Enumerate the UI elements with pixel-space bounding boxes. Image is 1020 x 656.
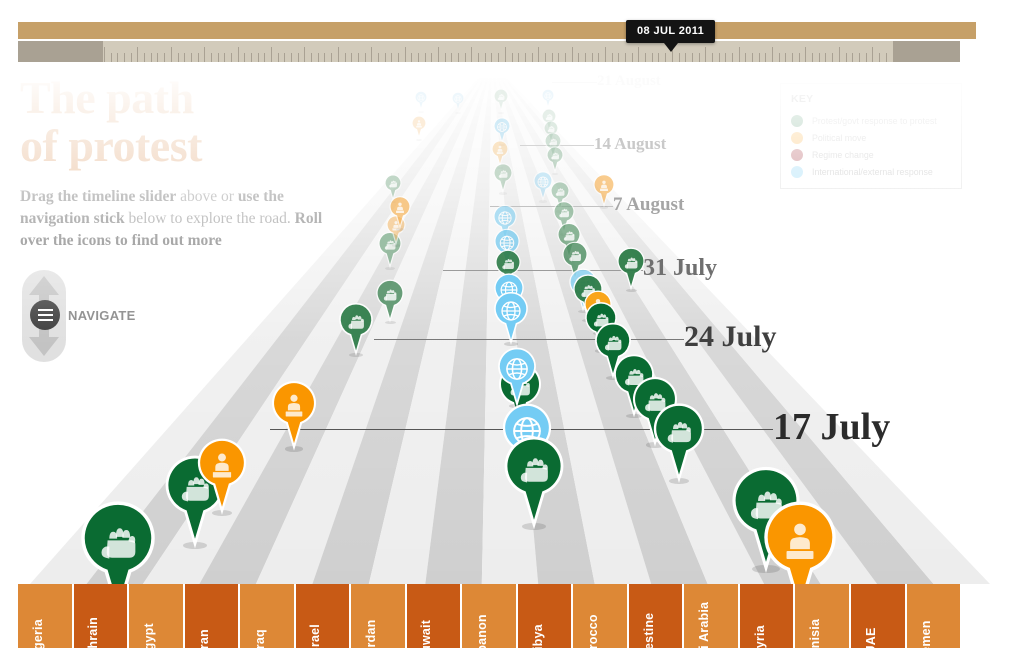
pin-body[interactable] xyxy=(590,176,618,214)
timeline-ruler[interactable] xyxy=(18,41,960,62)
timeline-bar[interactable] xyxy=(18,22,976,39)
timeline-tick xyxy=(191,53,192,62)
timeline-tick xyxy=(725,53,726,62)
timeline-tick xyxy=(799,53,800,62)
timeline-tick xyxy=(458,53,459,62)
country-label: Palestine xyxy=(642,613,656,648)
timeline-tick xyxy=(785,53,786,62)
timeline-tick xyxy=(117,53,118,62)
timeline-tick xyxy=(652,53,653,62)
timeline-slider[interactable]: 08 JUL 2011 xyxy=(0,0,1020,70)
country-cell[interactable]: Iran xyxy=(185,584,239,648)
timeline-tick xyxy=(772,47,773,62)
country-label: Yemen xyxy=(919,620,933,648)
map-pin-fist[interactable] xyxy=(490,90,512,119)
timeline-tick xyxy=(478,53,479,62)
timeline-tick xyxy=(752,53,753,62)
pin-body[interactable] xyxy=(490,90,512,119)
country-cell[interactable]: Iraq xyxy=(240,584,294,648)
date-label: 7 August xyxy=(613,194,684,216)
country-cell[interactable]: Tunisia xyxy=(795,584,849,648)
timeline-tick xyxy=(378,53,379,62)
timeline-tick xyxy=(846,53,847,62)
country-label: UAE xyxy=(864,628,878,649)
timeline-tick xyxy=(685,53,686,62)
timeline-tick xyxy=(351,53,352,62)
pin-body[interactable] xyxy=(495,351,539,412)
map-pin-podium[interactable] xyxy=(386,198,414,236)
country-label: Libya xyxy=(531,624,545,648)
timeline-tick xyxy=(565,53,566,62)
timeline-tick xyxy=(585,53,586,62)
timeline-tick xyxy=(505,47,506,62)
timeline-tick xyxy=(264,53,265,62)
timeline-tick xyxy=(137,47,138,62)
timeline-tick xyxy=(558,53,559,62)
country-label: Syria xyxy=(753,625,767,648)
pin-body[interactable] xyxy=(195,443,249,519)
timeline-tick xyxy=(284,53,285,62)
map-pin-globe[interactable] xyxy=(491,295,531,350)
timeline-tick xyxy=(104,47,105,62)
timeline-tick xyxy=(211,53,212,62)
timeline-tick xyxy=(331,53,332,62)
timeline-tick xyxy=(218,53,219,62)
timeline-tick xyxy=(705,47,706,62)
timeline-tick xyxy=(872,47,873,62)
timeline-tick xyxy=(338,47,339,62)
timeline-tick xyxy=(451,53,452,62)
timeline-tick xyxy=(291,53,292,62)
date-label: 17 July xyxy=(773,405,890,449)
country-cell[interactable]: Egypt xyxy=(129,584,183,648)
timeline-tick xyxy=(491,53,492,62)
timeline-tick xyxy=(605,47,606,62)
timeline-tick xyxy=(552,53,553,62)
timeline-tick xyxy=(164,53,165,62)
timeline-tick xyxy=(732,53,733,62)
country-label: Jordan xyxy=(364,620,378,648)
timeline-tick xyxy=(699,53,700,62)
road-perspective: 21 August14 August7 August31 July24 July… xyxy=(0,70,1020,584)
country-label: Lebanon xyxy=(475,614,489,648)
timeline-tick xyxy=(251,53,252,62)
map-pin-fist[interactable] xyxy=(79,508,157,584)
timeline-tick xyxy=(445,53,446,62)
timeline-tick xyxy=(157,53,158,62)
map-pin-globe[interactable] xyxy=(495,351,539,412)
timeline-tick xyxy=(578,53,579,62)
map-pin-podium[interactable] xyxy=(269,385,319,455)
pin-body[interactable] xyxy=(651,408,707,487)
timeline-tick xyxy=(178,53,179,62)
timeline-tick xyxy=(278,53,279,62)
timeline-tick xyxy=(345,53,346,62)
timeline-tick xyxy=(271,47,272,62)
timeline-tick xyxy=(391,53,392,62)
date-label: 31 July xyxy=(643,255,717,282)
timeline-tick xyxy=(852,53,853,62)
map-pin-globe[interactable] xyxy=(411,92,431,118)
timeline-tick xyxy=(438,47,439,62)
country-cell[interactable]: Bahrain xyxy=(74,584,128,648)
country-cell[interactable]: Saudi Arabia xyxy=(684,584,738,648)
timeline-tick xyxy=(665,53,666,62)
timeline-tick xyxy=(258,53,259,62)
timeline-tick xyxy=(886,53,887,62)
timeline-tick xyxy=(759,53,760,62)
country-cell[interactable]: Israel xyxy=(296,584,350,648)
timeline-tick xyxy=(598,53,599,62)
pin-body[interactable] xyxy=(614,250,648,296)
country-cell[interactable]: Palestine xyxy=(629,584,683,648)
timeline-tick xyxy=(398,53,399,62)
timeline-tick xyxy=(498,53,499,62)
timeline-tick xyxy=(111,53,112,62)
timeline-tick xyxy=(318,53,319,62)
timeline-tick xyxy=(645,53,646,62)
timeline-tick xyxy=(485,53,486,62)
timeline-tick xyxy=(739,47,740,62)
country-label: Israel xyxy=(308,624,322,648)
timeline-tick xyxy=(411,53,412,62)
timeline-tick xyxy=(144,53,145,62)
timeline-tick xyxy=(324,53,325,62)
timeline-tick xyxy=(859,53,860,62)
timeline-tick xyxy=(465,53,466,62)
timeline-tick xyxy=(184,53,185,62)
map-pin-podium[interactable] xyxy=(590,176,618,214)
timeline-tick xyxy=(866,53,867,62)
timeline-tick xyxy=(745,53,746,62)
country-label: Algeria xyxy=(31,619,45,648)
pin-body[interactable] xyxy=(336,306,376,361)
country-cell[interactable]: Yemen xyxy=(907,584,961,648)
country-cell[interactable]: UAE xyxy=(851,584,905,648)
timeline-tick xyxy=(431,53,432,62)
country-label: Iran xyxy=(197,629,211,648)
timeline-tick xyxy=(792,53,793,62)
pin-body[interactable] xyxy=(408,117,430,146)
timeline-tick xyxy=(625,53,626,62)
timeline-tick xyxy=(805,47,806,62)
timeline-tick xyxy=(812,53,813,62)
timeline-tick xyxy=(839,47,840,62)
pin-body[interactable] xyxy=(269,385,319,455)
pin-body[interactable] xyxy=(491,295,531,350)
timeline-tick xyxy=(879,53,880,62)
timeline-tick xyxy=(244,53,245,62)
timeline-tick xyxy=(131,53,132,62)
country-cell[interactable]: Lebanon xyxy=(462,584,516,648)
infographic-root: 08 JUL 2011 The path of protest Drag the… xyxy=(0,0,1020,656)
timeline-tick xyxy=(525,53,526,62)
country-cell[interactable]: Algeria xyxy=(18,584,72,648)
pin-body[interactable] xyxy=(373,282,407,328)
country-label: Kuwait xyxy=(419,620,433,648)
timeline-tick xyxy=(679,53,680,62)
country-cell[interactable]: Kuwait xyxy=(407,584,461,648)
pin-body[interactable] xyxy=(386,198,414,236)
timeline-tick xyxy=(692,53,693,62)
date-label: 21 August xyxy=(597,73,661,90)
timeline-tick xyxy=(632,53,633,62)
timeline-tick xyxy=(638,47,639,62)
timeline-tick xyxy=(204,47,205,62)
country-label: Egypt xyxy=(142,623,156,648)
timeline-tick xyxy=(532,53,533,62)
timeline-tick xyxy=(418,53,419,62)
timeline-tick xyxy=(304,47,305,62)
timeline-tick xyxy=(719,53,720,62)
timeline-tick xyxy=(198,53,199,62)
timeline-tick xyxy=(405,47,406,62)
map-pin-fist[interactable] xyxy=(614,250,648,296)
timeline-tick xyxy=(612,53,613,62)
timeline-tick xyxy=(819,53,820,62)
timeline-tick xyxy=(371,47,372,62)
timeline-tick xyxy=(538,47,539,62)
timeline-tick xyxy=(832,53,833,62)
country-label: Iraq xyxy=(253,629,267,648)
country-label: Morocco xyxy=(586,614,600,648)
country-label: Saudi Arabia xyxy=(697,602,711,648)
timeline-tick xyxy=(238,47,239,62)
timeline-tick xyxy=(471,47,472,62)
pin-body[interactable] xyxy=(502,442,566,533)
country-cell[interactable]: Syria xyxy=(740,584,794,648)
pin-body[interactable] xyxy=(448,93,468,119)
timeline-tick xyxy=(779,53,780,62)
date-rule xyxy=(443,270,643,271)
timeline-date-tooltip[interactable]: 08 JUL 2011 xyxy=(626,20,715,43)
date-label: 24 July xyxy=(684,320,777,354)
timeline-tick xyxy=(425,53,426,62)
pin-body[interactable] xyxy=(762,508,838,584)
date-rule xyxy=(552,82,597,83)
map-pin-podium[interactable] xyxy=(762,508,838,584)
map-pin-fist[interactable] xyxy=(651,408,707,487)
timeline-tick xyxy=(658,53,659,62)
timeline-tick xyxy=(618,53,619,62)
timeline-tick xyxy=(512,53,513,62)
map-pin-podium[interactable] xyxy=(195,443,249,519)
pin-body[interactable] xyxy=(490,165,516,200)
timeline-tick xyxy=(518,53,519,62)
timeline-tick xyxy=(545,53,546,62)
timeline-tick xyxy=(298,53,299,62)
timeline-tick xyxy=(231,53,232,62)
country-axis: AlgeriaBahrainEgyptIranIraqIsraelJordanK… xyxy=(18,584,960,648)
pin-body[interactable] xyxy=(79,508,157,584)
timeline-tick xyxy=(365,53,366,62)
country-cell[interactable]: Jordan xyxy=(351,584,405,648)
timeline-tick xyxy=(171,47,172,62)
country-label: Tunisia xyxy=(808,619,822,648)
timeline-tick xyxy=(572,47,573,62)
timeline-tick xyxy=(385,53,386,62)
country-label: Bahrain xyxy=(86,617,100,648)
country-cell[interactable]: Morocco xyxy=(573,584,627,648)
timeline-tick xyxy=(224,53,225,62)
map-pin-fist[interactable] xyxy=(490,165,516,200)
map-pin-fist[interactable] xyxy=(373,282,407,328)
timeline-tick xyxy=(358,53,359,62)
timeline-tick xyxy=(124,53,125,62)
map-pin-podium[interactable] xyxy=(408,117,430,146)
pin-body[interactable] xyxy=(411,92,431,118)
map-pin-globe[interactable] xyxy=(448,93,468,119)
timeline-tick xyxy=(592,53,593,62)
timeline-tick xyxy=(712,53,713,62)
timeline-tick xyxy=(765,53,766,62)
timeline-tick xyxy=(825,53,826,62)
date-label: 14 August xyxy=(594,134,666,154)
timeline-tick xyxy=(151,53,152,62)
map-pin-fist[interactable] xyxy=(502,442,566,533)
country-cell[interactable]: Libya xyxy=(518,584,572,648)
timeline-tick xyxy=(311,53,312,62)
map-pin-fist[interactable] xyxy=(336,306,376,361)
